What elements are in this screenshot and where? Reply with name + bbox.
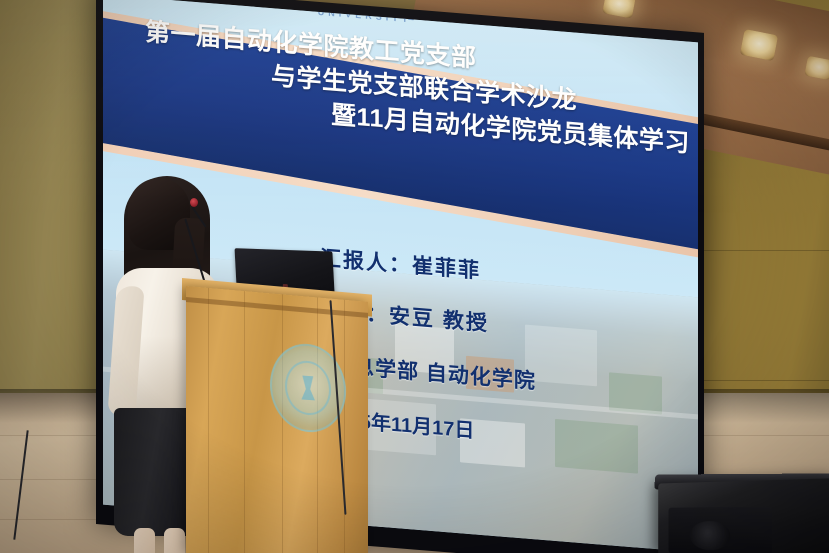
slide-title-line-1: 第一届自动化学院教工党支部 — [145, 20, 477, 72]
leg — [134, 528, 155, 553]
slide-title-line-2: 与学生党支部联合学术沙龙 — [271, 64, 577, 114]
stage-monitor-speaker — [658, 478, 829, 553]
presentation-photo-scene: UNIVERSITY 第一届自动化学院教工党支部 与学生党支部联合学术沙龙 暨1… — [0, 0, 829, 553]
leg — [164, 528, 185, 553]
podium — [186, 286, 368, 553]
speaker-driver-icon — [690, 521, 731, 551]
microphone-head-icon — [190, 198, 198, 207]
slide-title-line-3: 暨11月自动化学院党员集体学习 — [331, 103, 690, 157]
